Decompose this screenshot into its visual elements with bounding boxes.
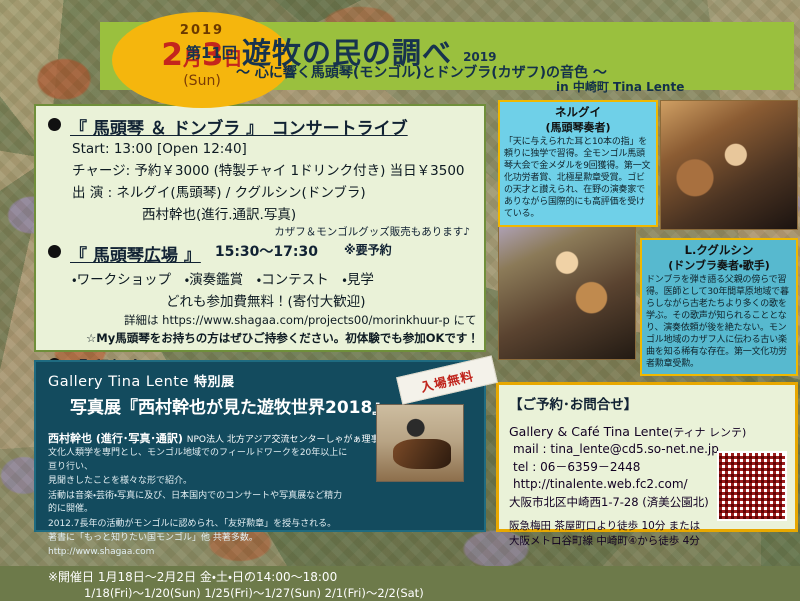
performer-role: (馬頭琴奏者) [504,119,652,135]
program-section-concert: 『 馬頭琴 ＆ ドンブラ 』 コンサートライブ Start: 13:00 [Op… [46,114,474,239]
exhibition-bio-line[interactable]: 著書に「もっと知りたい国モンゴル」他 共著多数。http://www.shaga… [48,532,348,559]
exhibition-bio-line: 活動は音楽・芸術・写真に及び、日本国内でのコンサートや写真展など精力的に開催。 [48,490,348,517]
bring-your-own-note: ☆My馬頭琴をお持ちの方はぜひご持参ください。初体験でも参加OKです！ [86,330,474,346]
performer-bio: 「天に与えられた耳と10本の指」を頼りに独学で習得。全モンゴル馬頭琴大会で金メダ… [504,137,652,220]
performer-role: (ドンブラ奏者・歌手) [646,257,792,273]
qr-modules [719,453,785,519]
section-heading-row: 『 馬頭琴広場 』 15:30～17:30 ※要予約 [46,241,474,266]
performer-info: L.クグルシン (ドンブラ奏者・歌手) ドンブラを弾き語る父親の傍らで習得。医師… [642,240,796,374]
access-line: 大阪メトロ谷町線 中崎町④から徒歩 4分 [509,534,785,549]
dates-label: ※開催日 [48,570,94,584]
section-heading-row: 『 馬頭琴 ＆ ドンブラ 』 コンサートライブ [46,114,474,139]
program-line: チャージ: 予約￥3000 (特製チャイ 1ドリンク付き) 当日￥3500 [72,159,474,179]
details-url-line[interactable]: 詳細は https://www.shagaa.com/projects00/mo… [124,312,474,328]
program-panel: 『 馬頭琴 ＆ ドンブラ 』 コンサートライブ Start: 13:00 [Op… [34,104,486,352]
contact-access: 阪急梅田 茶屋町口より徒歩 10分 または 大阪メトロ谷町線 中崎町④から徒歩 … [509,519,785,549]
performer-info: ネルグイ (馬頭琴奏者) 「天に与えられた耳と10本の指」を頼りに独学で習得。全… [500,102,656,225]
exhibition-bio-line: 文化人類学を専門とし、モンゴル地域でのフィールドワークを20年以上に亘り行い、 [48,447,348,474]
performer-photo-nergui [660,100,798,230]
exhibition-photo-horserider [376,404,464,482]
section-time: 15:30～17:30 [215,241,318,261]
author-name: 西村幹也 (進行･写真･通訳) [48,432,183,445]
dates-detail: 1/18(Fri)～1/20(Sun) 1/25(Fri)～1/27(Sun) … [84,585,472,601]
gallery-name: Gallery Tina Lente [48,374,189,390]
special-exhibition-label: 特別展 [194,375,235,390]
goods-note: カザフ＆モンゴルグッズ販売もあります♪ [46,224,470,239]
title-prefix: 第11回 [186,44,237,62]
date-month: 2 [161,37,183,73]
program-section-morinkhuur-hiroba: 『 馬頭琴広場 』 15:30～17:30 ※要予約 ・ワークショップ ・演奏鑑… [46,241,474,346]
horse-shape [393,439,451,469]
author-affiliation: NPO法人 北方アジア交流センターしゃがぁ理事長。 [187,435,398,445]
program-line: どれも参加費無料！(寄付大歓迎) [166,290,474,310]
reservation-note: ※要予約 [344,241,392,258]
performer-name: L.クグルシン [646,243,792,257]
performer-card-nergui: ネルグイ (馬頭琴奏者) 「天に与えられた耳と10本の指」を頼りに独学で習得。全… [498,100,658,227]
exhibition-dates: ※開催日 1月18日～2月2日 金・土・日の14:00～18:00 1/18(F… [48,568,472,601]
bullet-icon [48,245,61,258]
program-line: 西村幹也(進行.通訳.写真) [142,203,474,223]
exhibition-bio-line: 見聞きしたことを様々な形で紹介。 [48,475,348,489]
section-title: 『 馬頭琴 ＆ ドンブラ 』 コンサートライブ [70,114,408,139]
section-title: 『 馬頭琴広場 』 [70,241,201,266]
performer-name: ネルグイ [504,105,652,119]
contact-panel: 【ご予約･お問合せ】 Gallery & Café Tina Lente(ティナ… [496,382,798,532]
contact-shop: Gallery & Café Tina Lente(ティナ レンテ) [509,424,785,440]
program-line: Start: 13:00 [Open 12:40] [72,141,474,157]
contact-title: 【ご予約･お問合せ】 [509,393,785,413]
shop-name-kana: (ティナ レンテ) [669,426,746,439]
shop-name: Gallery & Café Tina Lente [509,424,669,439]
access-line: 阪急梅田 茶屋町口より徒歩 10分 または [509,519,785,534]
program-line: ・ワークショップ ・演奏鑑賞 ・コンテスト ・見学 [72,268,474,288]
bullet-icon [48,118,61,131]
exhibition-bio-line: 2012.7長年の活動がモンゴルに認められ、「友好勲章」を授与される。 [48,518,348,532]
dates-main: 1月18日～2月2日 金・土・日の14:00～18:00 [98,570,337,584]
event-subtitle: ～ 心に響く馬頭琴(モンゴル)とドンブラ(カザフ)の音色 ～ [236,62,607,82]
performer-card-kugulshin: L.クグルシン (ドンブラ奏者・歌手) ドンブラを弾き語る父親の傍らで習得。医師… [640,238,798,376]
performer-bio: ドンブラを弾き語る父親の傍らで習得。医師として30年間草原地域で暮らしながら古老… [646,275,792,370]
event-venue: in 中崎町 Tina Lente [556,78,684,95]
program-line: 出 演 : ネルグイ(馬頭琴) / クグルシン(ドンブラ) [72,181,474,201]
qr-code[interactable] [717,451,787,521]
performer-photo-kugulshin [498,212,636,360]
